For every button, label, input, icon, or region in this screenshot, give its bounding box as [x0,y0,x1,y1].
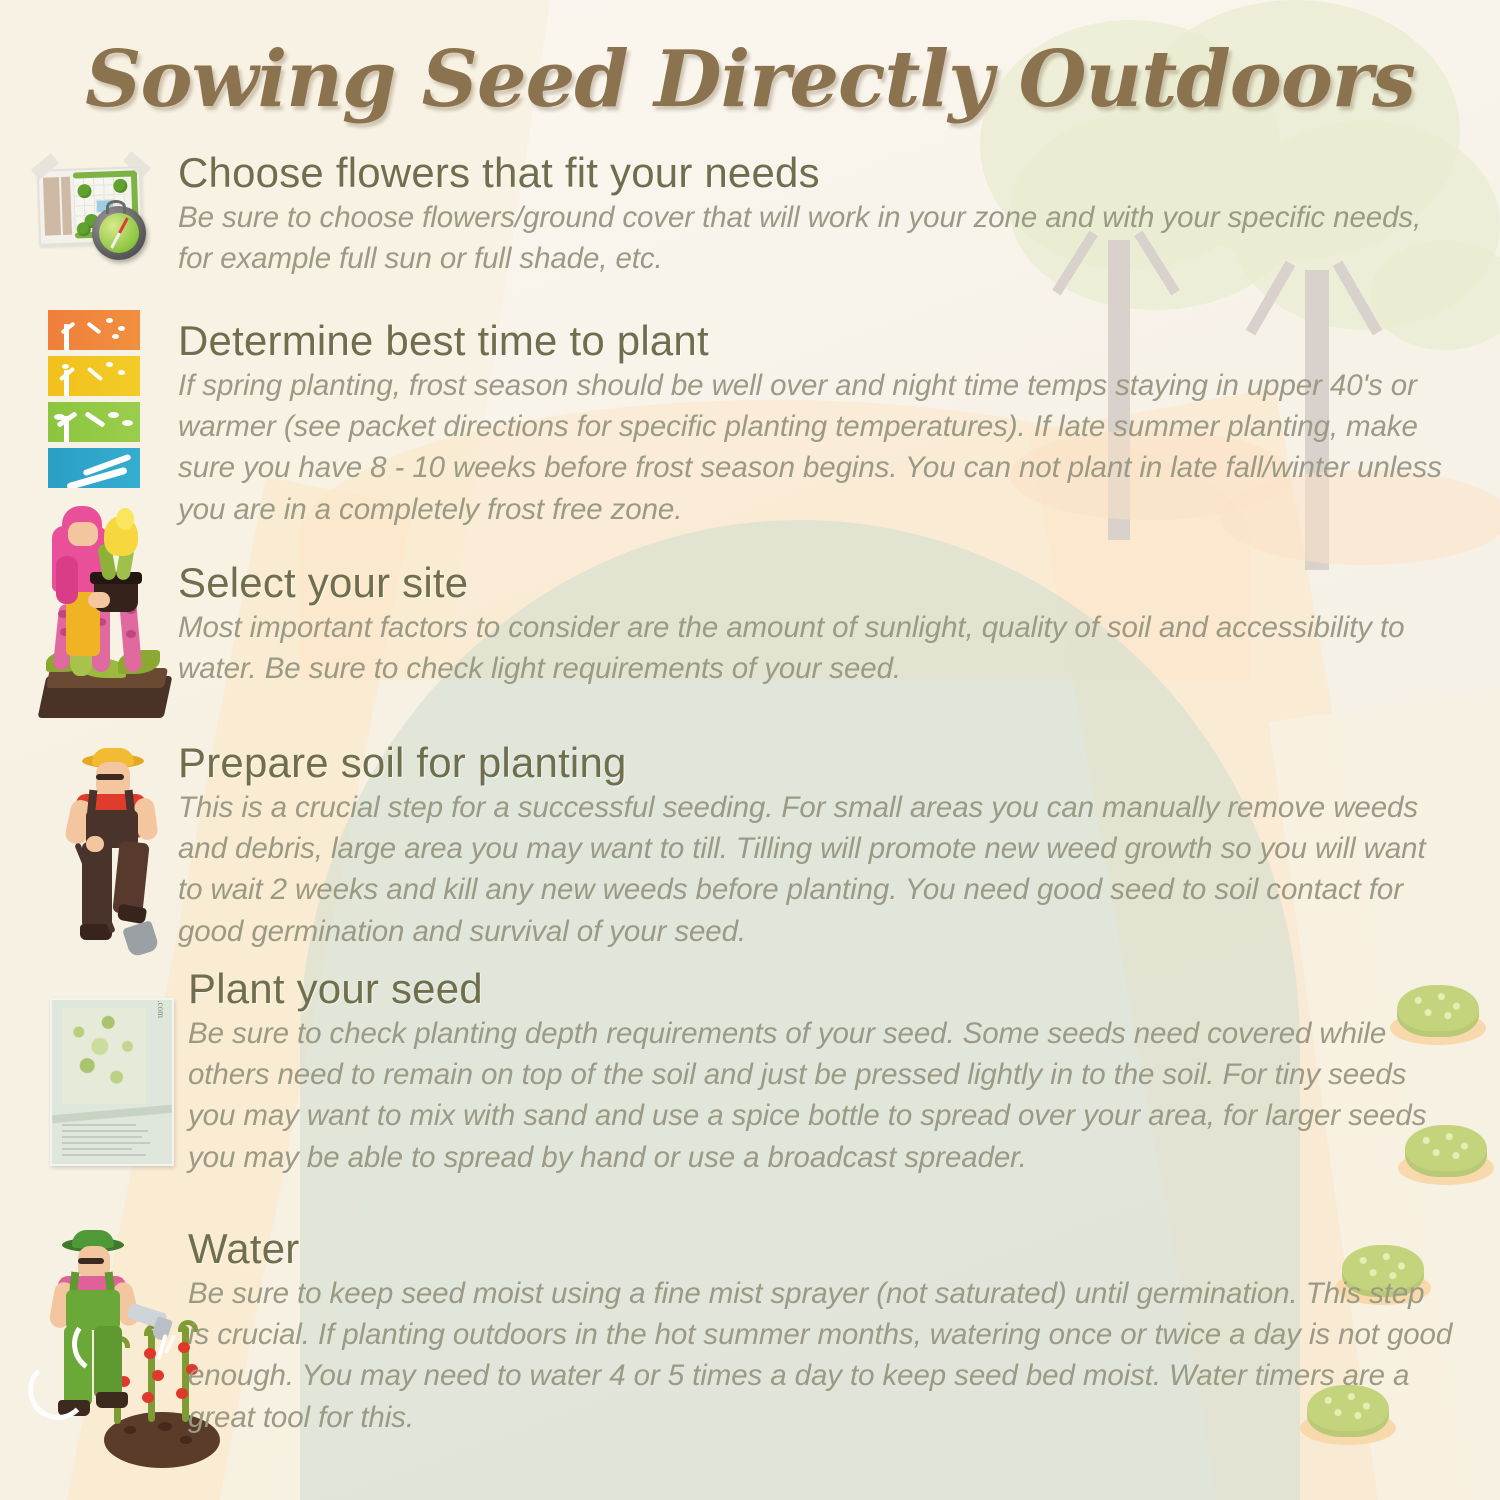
step-2-body: If spring planting, frost season should … [178,365,1443,530]
step-2-heading: Determine best time to plant [178,320,1443,363]
poster-title: Sowing Seed Directly Outdoors [0,34,1500,125]
seed-packet-icon: OutsidePride.com [42,992,187,1182]
step-1-body: Be sure to choose flowers/ground cover t… [178,197,1443,280]
seed-packet-brand: OutsidePride.com [156,998,166,1018]
season-bar-spring [48,402,140,442]
season-bar-autumn [48,310,140,350]
step-6-body: Be sure to keep seed moist using a fine … [188,1273,1453,1438]
step-6: Water Be sure to keep seed moist using a… [188,1228,1453,1438]
step-4: Prepare soil for planting This is a cruc… [178,742,1443,952]
step-3: Select your site Most important factors … [178,562,1443,689]
steps-container: Choose flowers that fit your needs Be su… [0,0,1500,1500]
four-seasons-icon [48,310,148,490]
step-2: Determine best time to plant If spring p… [178,320,1443,530]
compass-icon [92,206,146,260]
step-4-body: This is a crucial step for a successful … [178,787,1443,952]
step-1-heading: Choose flowers that fit your needs [178,152,1443,195]
step-5-body: Be sure to check planting depth requirem… [188,1013,1453,1178]
season-bar-winter [48,448,140,488]
gardener-with-potted-flower-icon [30,500,180,730]
step-3-heading: Select your site [178,562,1443,605]
gardener-with-shovel-icon [40,748,180,963]
step-4-heading: Prepare soil for planting [178,742,1443,785]
step-6-heading: Water [188,1228,1453,1271]
season-bar-summer [48,356,140,396]
garden-plan-compass-icon [32,158,157,278]
step-1: Choose flowers that fit your needs Be su… [178,152,1443,279]
step-5: Plant your seed Be sure to check plantin… [188,968,1453,1178]
seed-packet: OutsidePride.com [50,998,174,1166]
step-3-body: Most important factors to consider are t… [178,607,1443,690]
infographic-poster: Sowing Seed Directly Outdoors [0,0,1500,1500]
step-5-heading: Plant your seed [188,968,1453,1011]
